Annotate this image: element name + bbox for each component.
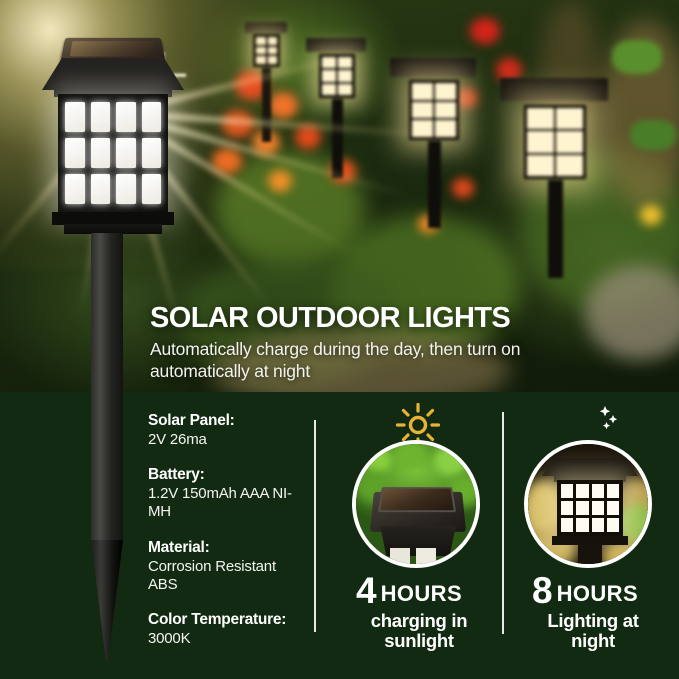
solar-panel-top (61, 38, 166, 61)
spec-item-material: Material: Corrosion Resistant ABS (148, 539, 308, 595)
page-title: SOLAR OUTDOOR LIGHTS (150, 303, 510, 333)
feature-image-charging (352, 440, 480, 568)
flower (470, 18, 500, 44)
lantern-stake-tip (91, 540, 123, 660)
vertical-divider (314, 420, 316, 632)
lantern-pane (116, 174, 136, 204)
leaf (612, 40, 662, 74)
lantern-light-body (58, 94, 168, 212)
spec-value: 1.2V 150mAh AAA NI-MH (148, 485, 308, 522)
lantern-pane (65, 102, 85, 132)
lit-lantern-closeup-photo (528, 444, 648, 564)
lantern-pane (142, 138, 162, 168)
lantern-pane (91, 138, 111, 168)
spec-label: Material: (148, 539, 308, 558)
caption-line-1: charging in (334, 611, 504, 631)
spec-label: Battery: (148, 466, 308, 485)
product-infographic: SOLAR OUTDOOR LIGHTS Automatically charg… (0, 0, 679, 679)
background-lantern (500, 78, 610, 278)
lantern-pane (116, 102, 136, 132)
spec-value: 2V 26ma (148, 431, 308, 449)
lantern-pane (65, 174, 85, 204)
stone-blob (585, 265, 679, 360)
feature-duration-lighting: 8HOURS (532, 570, 638, 612)
feature-image-lighting (524, 440, 652, 568)
duration-unit: HOURS (381, 581, 462, 606)
spec-label: Solar Panel: (148, 412, 308, 431)
lantern-roof (42, 58, 184, 90)
lantern-pane (142, 102, 162, 132)
spec-item-solar-panel: Solar Panel: 2V 26ma (148, 412, 308, 449)
vertical-divider (502, 412, 504, 634)
solar-panel-closeup-photo (356, 444, 476, 564)
feature-caption-charging: charging in sunlight (334, 611, 504, 651)
page-subtitle: Automatically charge during the day, the… (150, 338, 540, 383)
caption-line-2: sunlight (334, 631, 504, 651)
feature-duration-charging: 4HOURS (356, 570, 462, 612)
spec-item-battery: Battery: 1.2V 150mAh AAA NI-MH (148, 466, 308, 522)
spec-value: Corrosion Resistant ABS (148, 558, 308, 595)
lantern-pane (91, 102, 111, 132)
caption-line-1: Lighting at (508, 611, 678, 631)
duration-number: 4 (356, 570, 376, 611)
specifications-list: Solar Panel: 2V 26ma Battery: 1.2V 150mA… (148, 412, 308, 665)
lantern-pane (65, 138, 85, 168)
caption-line-2: night (508, 631, 678, 651)
feature-caption-lighting: Lighting at night (508, 611, 678, 651)
background-lantern (390, 58, 478, 228)
lantern-stake-pole (91, 233, 123, 543)
spec-item-color-temperature: Color Temperature: 3000K (148, 611, 308, 648)
duration-number: 8 (532, 570, 552, 611)
spec-label: Color Temperature: (148, 611, 323, 630)
flower (640, 205, 662, 225)
duration-unit: HOURS (557, 581, 638, 606)
spec-value: 3000K (148, 630, 308, 648)
lantern-pane (91, 174, 111, 204)
lantern-pane (116, 138, 136, 168)
leaf (630, 120, 676, 150)
lantern-pane (142, 174, 162, 204)
